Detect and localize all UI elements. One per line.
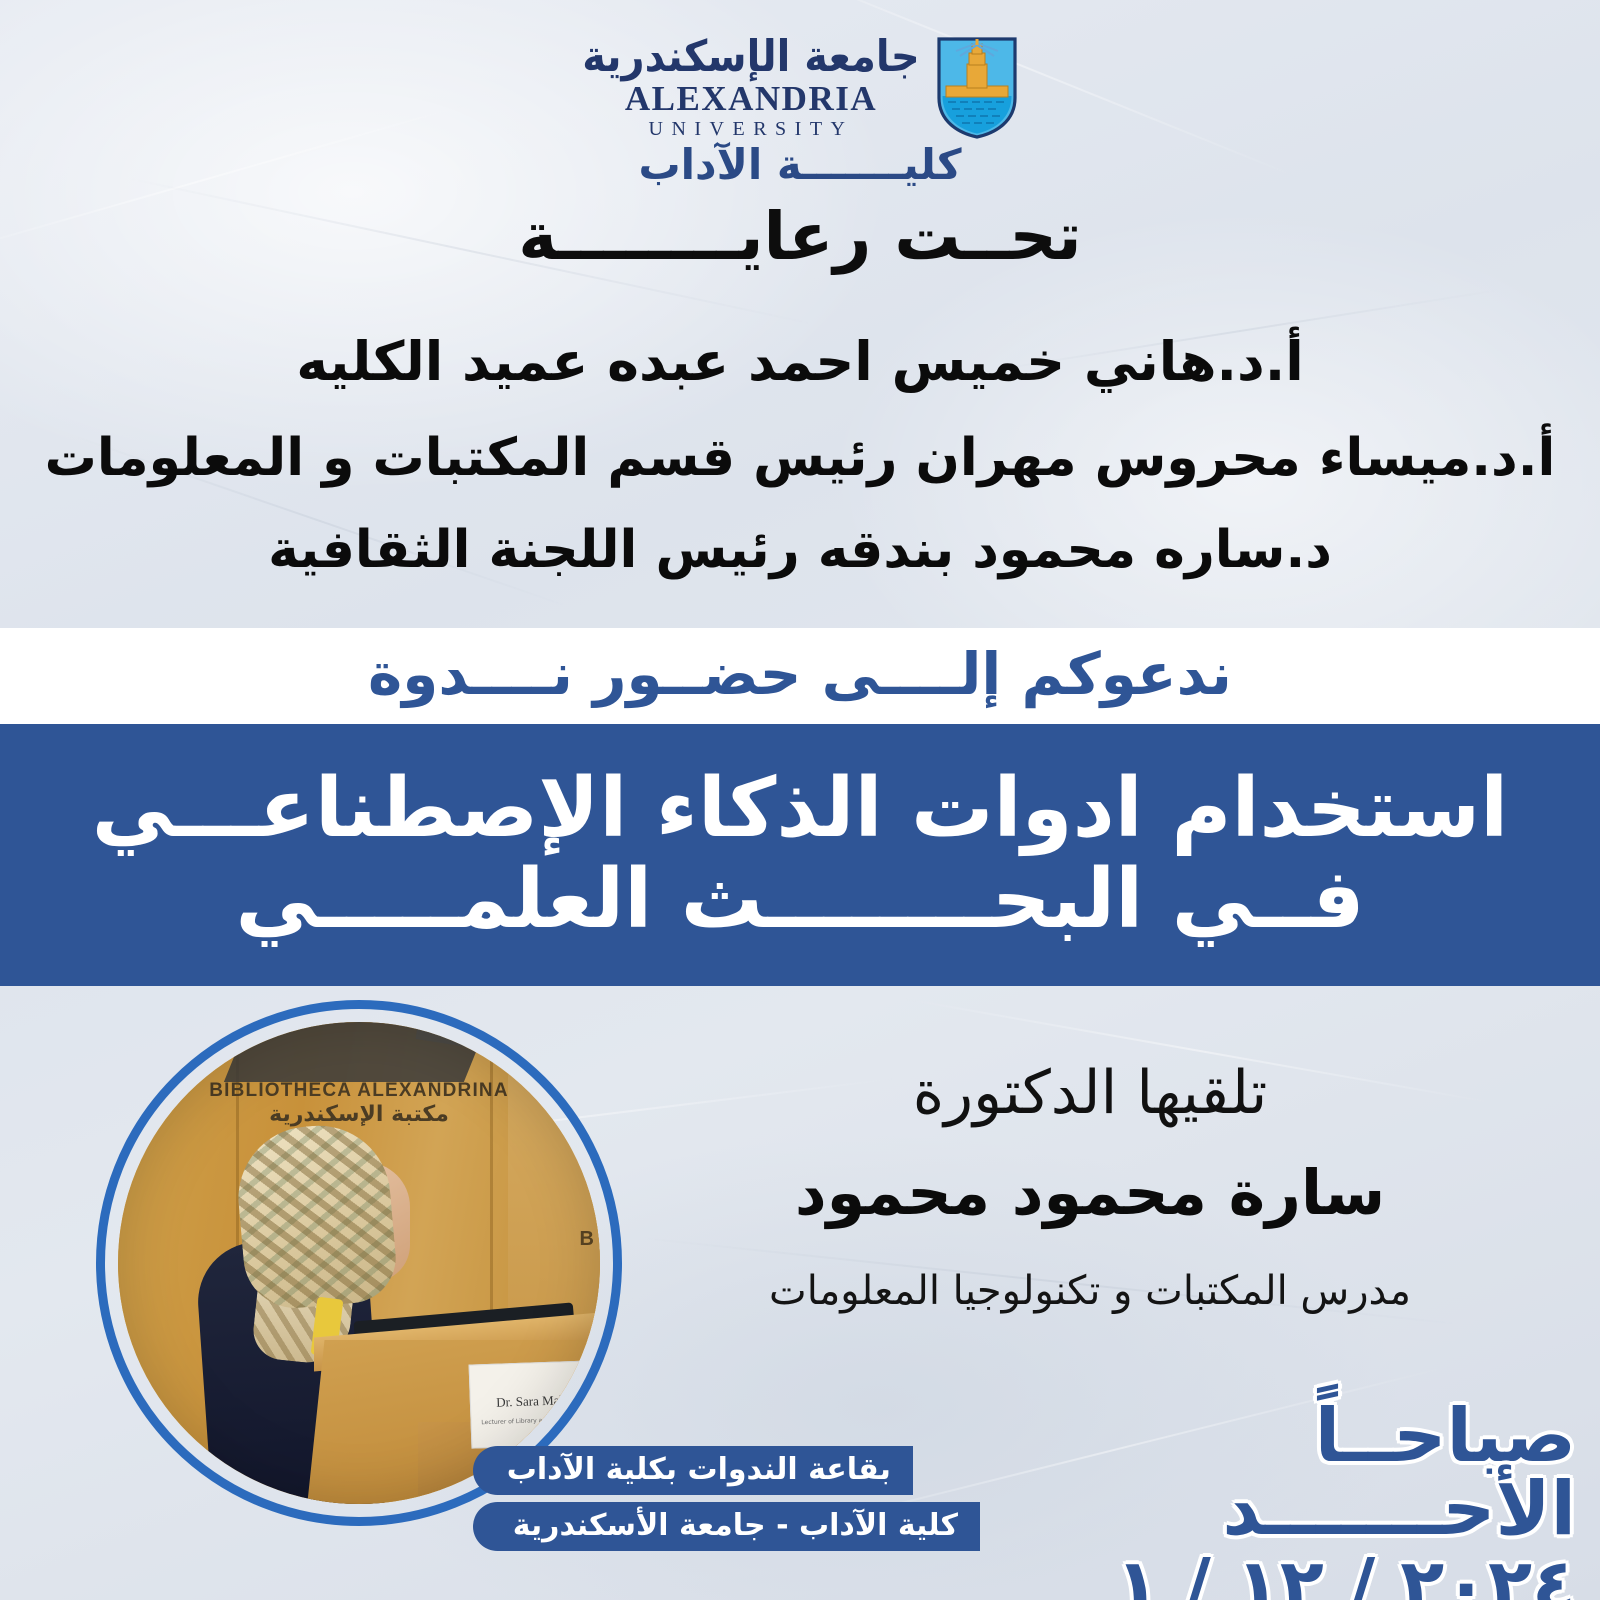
- patronage-person-3: د.ساره محمود بندقه رئيس اللجنة الثقافية: [0, 520, 1600, 580]
- invitation-band: ندعوكم إلــــى حضــور نــــدوة: [0, 628, 1600, 724]
- event-date: ٢٠٢٤ / ١٢ / ١: [1116, 1543, 1577, 1600]
- faculty-name: كليـــــــة الآداب: [0, 140, 1600, 189]
- poster-canvas: جامعة الإسكندرية ALEXANDRIA UNIVERSITY: [0, 0, 1600, 1600]
- patronage-person-1: أ.د.هاني خميس احمد عبده عميد الكليه: [0, 330, 1600, 393]
- institution-badge: كلية الآداب - جامعة الأسكندرية: [473, 1502, 980, 1551]
- seminar-title-block: استخدام ادوات الذكاء الإصطناعـــي فــي ا…: [0, 724, 1600, 986]
- event-day: الأحـــــــد: [1222, 1466, 1576, 1552]
- speaker-name: سارة محمود محمود: [640, 1156, 1540, 1229]
- event-location: بقاعة الندوات بكلية الآداب كلية الآداب -…: [473, 1446, 980, 1551]
- event-datetime: صباحــاً الأحـــــــد ٢٠٢٤ / ١٢ / ١ ١١:٠…: [976, 1400, 1576, 1600]
- university-name-en-line2: UNIVERSITY: [649, 119, 854, 139]
- patronage-title: تحــت رعايــــــــة: [0, 198, 1600, 275]
- speaker-intro-label: تلقيها الدكتورة: [640, 1058, 1540, 1128]
- alexandria-lighthouse-shield-icon: [936, 36, 1018, 140]
- invitation-text: ندعوكم إلــــى حضــور نــــدوة: [368, 640, 1232, 708]
- patronage-person-2: أ.د.ميساء محروس مهران رئيس قسم المكتبات …: [0, 428, 1600, 488]
- seminar-title-line2: فــي البحــــــــث العلمـــــي: [235, 856, 1364, 945]
- university-name-en-line1: ALEXANDRIA: [625, 81, 877, 116]
- university-logo: جامعة الإسكندرية ALEXANDRIA UNIVERSITY: [0, 28, 1600, 148]
- seminar-title-line1: استخدام ادوات الذكاء الإصطناعـــي: [92, 765, 1508, 854]
- event-time-and-date: ٢٠٢٤ / ١٢ / ١ ١١:٠٠: [976, 1549, 1576, 1600]
- event-day-and-period: صباحــاً الأحـــــــد: [976, 1400, 1576, 1545]
- speaker-role: مدرس المكتبات و تكنولوجيا المعلومات: [640, 1268, 1540, 1314]
- venue-badge: بقاعة الندوات بكلية الآداب: [473, 1446, 913, 1495]
- university-name-arabic: جامعة الإسكندرية: [582, 35, 919, 78]
- university-wordmark: جامعة الإسكندرية ALEXANDRIA UNIVERSITY: [582, 37, 919, 139]
